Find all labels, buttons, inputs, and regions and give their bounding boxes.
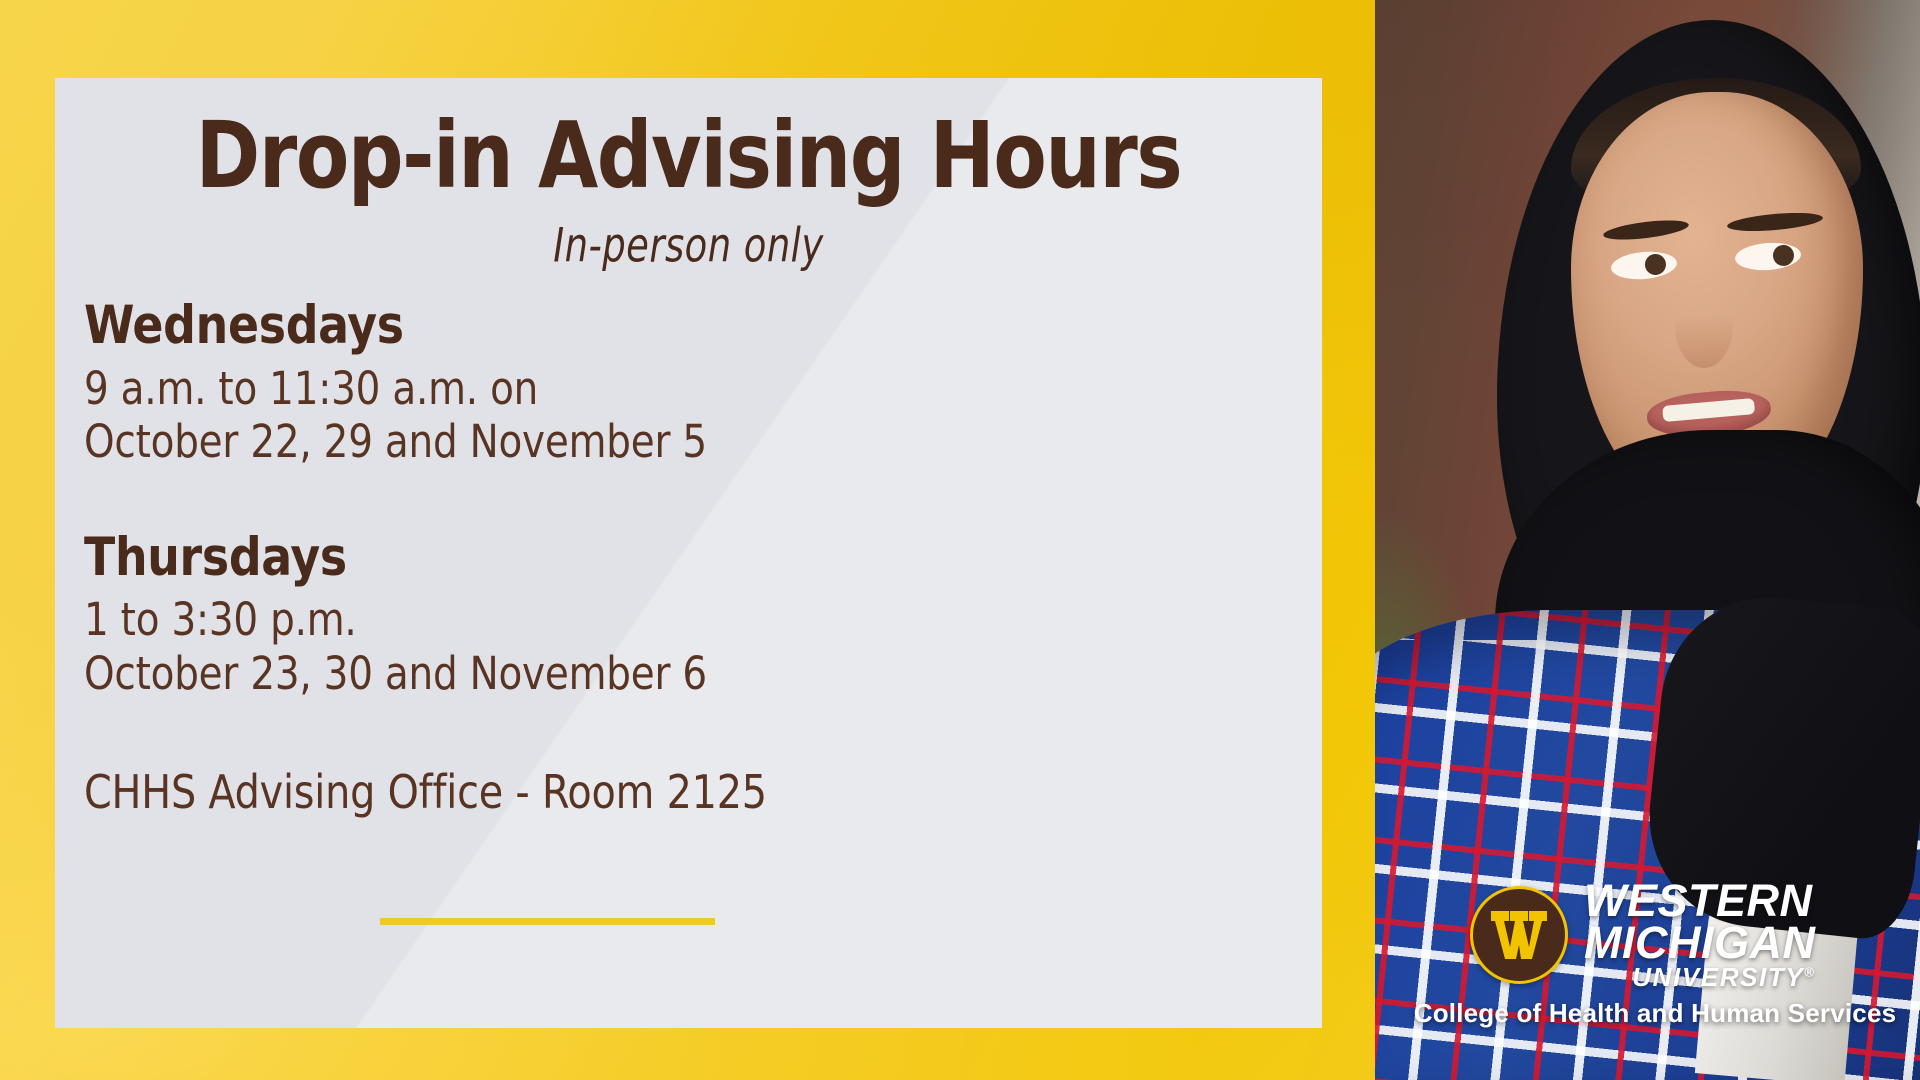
location-text: CHHS Advising Office - Room 2125 xyxy=(84,766,1234,819)
wmu-wordmark-line3: UNIVERSITY® xyxy=(1584,965,1815,989)
day-dates: October 22, 29 and November 5 xyxy=(84,415,1234,468)
schedule-block-spacer xyxy=(84,468,1282,530)
wmu-university-text: UNIVERSITY xyxy=(1632,962,1804,992)
photo-iris-right xyxy=(1772,244,1794,266)
wmu-wordmark-line1: WESTERN xyxy=(1584,880,1815,922)
photo-iris-left xyxy=(1644,253,1667,276)
page-title: Drop-in Advising Hours xyxy=(93,110,1284,202)
schedule-block-thursdays: Thursdays 1 to 3:30 p.m. October 23, 30 … xyxy=(84,530,1282,700)
photo-nose xyxy=(1675,282,1733,368)
wmu-wordmark: WESTERN MICHIGAN UNIVERSITY® xyxy=(1584,880,1815,989)
gold-divider xyxy=(380,918,715,925)
registered-mark: ® xyxy=(1804,964,1815,979)
wmu-w-icon xyxy=(1470,886,1568,984)
day-time: 1 to 3:30 p.m. xyxy=(84,593,1234,646)
schedule-list: Wednesdays 9 a.m. to 11:30 a.m. on Octob… xyxy=(84,298,1282,819)
panel-content: Drop-in Advising Hours In-person only We… xyxy=(55,78,1322,1028)
wmu-wordmark-line2: MICHIGAN xyxy=(1584,922,1815,964)
info-panel: Drop-in Advising Hours In-person only We… xyxy=(55,78,1322,1028)
wmu-logo: WESTERN MICHIGAN UNIVERSITY® xyxy=(1470,880,1815,989)
day-heading: Wednesdays xyxy=(84,298,1234,354)
poster: Drop-in Advising Hours In-person only We… xyxy=(0,0,1920,1080)
page-subtitle: In-person only xyxy=(131,218,1246,273)
day-heading: Thursdays xyxy=(84,530,1234,586)
photo-teeth xyxy=(1662,398,1755,422)
day-dates: October 23, 30 and November 6 xyxy=(84,647,1234,700)
day-time: 9 a.m. to 11:30 a.m. on xyxy=(84,362,1234,415)
schedule-block-wednesdays: Wednesdays 9 a.m. to 11:30 a.m. on Octob… xyxy=(84,298,1282,468)
college-name: College of Health and Human Services xyxy=(1400,998,1910,1029)
